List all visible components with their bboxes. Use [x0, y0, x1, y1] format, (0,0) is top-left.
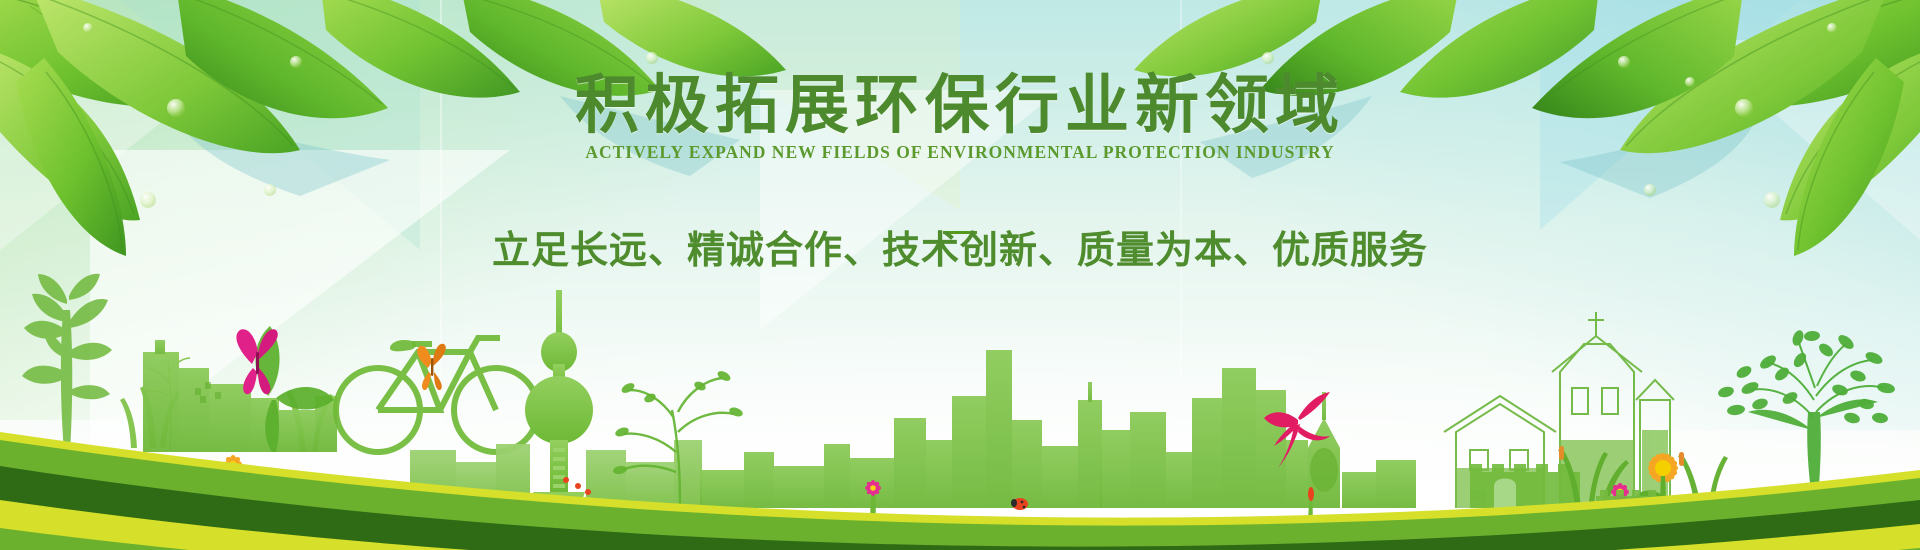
page-title: 积极拓展环保行业新领域 [0, 54, 1920, 146]
eco-banner: 积极拓展环保行业新领域 ACTIVELY EXPAND NEW FIELDS O… [0, 0, 1920, 550]
page-slogan: 立足长远、精诚合作、技术创新、质量为本、优质服务 [0, 219, 1920, 274]
page-subtitle: ACTIVELY EXPAND NEW FIELDS OF ENVIRONMEN… [0, 142, 1920, 163]
text-block: 积极拓展环保行业新领域 ACTIVELY EXPAND NEW FIELDS O… [0, 0, 1920, 550]
